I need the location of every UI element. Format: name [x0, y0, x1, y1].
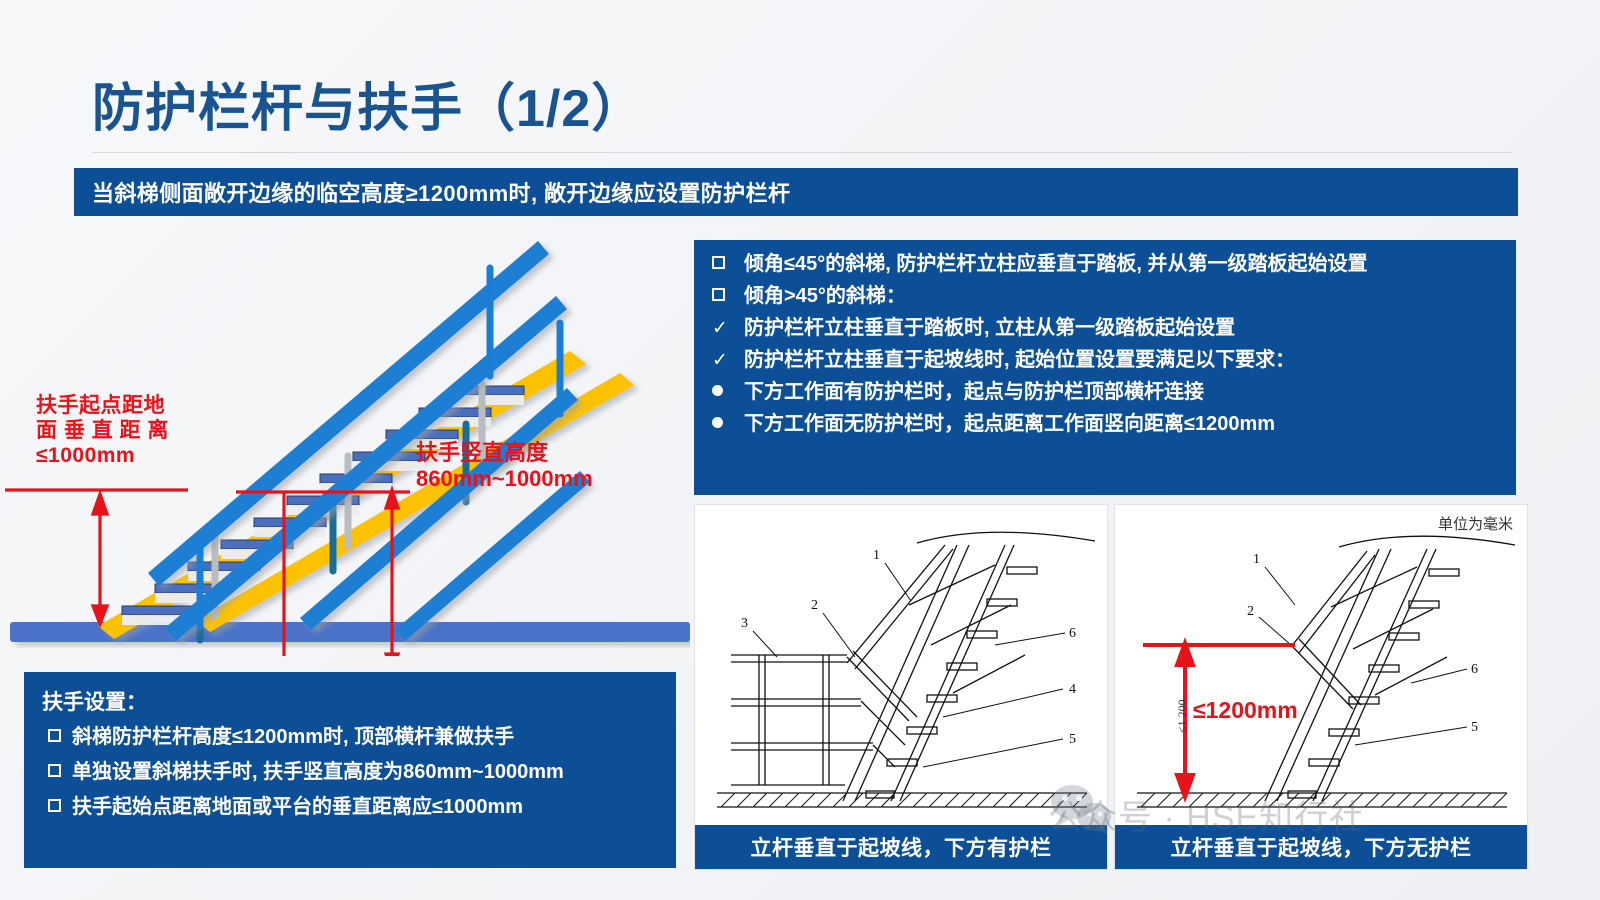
- rule-item-label: 下方工作面有防护栏时，起点与防护栏顶部横杆连接: [744, 380, 1204, 404]
- figure-callout-1: 1: [873, 548, 880, 563]
- title-divider: [92, 152, 1512, 153]
- figure-callout-5: 5: [1069, 732, 1076, 747]
- square-bullet-icon: [42, 760, 72, 784]
- figure-unit-note: 单位为毫米: [1438, 513, 1513, 534]
- rule-item-label: 防护栏杆立柱垂直于踏板时, 立柱从第一级踏板起始设置: [744, 316, 1235, 340]
- rule-item: 倾角≤45°的斜梯, 防护栏杆立柱应垂直于踏板, 并从第一级踏板起始设置: [708, 252, 1506, 276]
- header-banner-text: 当斜梯侧面敞开边缘的临空高度≥1200mm时, 敞开边缘应设置防护栏杆: [74, 176, 790, 208]
- annotation-handrail-vertical-height: 扶手竖直高度 860mm~1000mm: [416, 440, 593, 492]
- rule-item: ✓ 防护栏杆立柱垂直于起坡线时, 起始位置设置要满足以下要求：: [708, 348, 1506, 372]
- handrail-item: 扶手起始点距离地面或平台的垂直距离应≤1000mm: [42, 795, 658, 819]
- annotation-handrail-start-height: 扶手起点距地 面 垂 直 距 离 ≤1000mm: [36, 394, 169, 468]
- rule-item-label: 下方工作面无防护栏时，起点距离工作面竖向距离≤1200mm: [744, 412, 1275, 436]
- figure-callout-2: 2: [811, 598, 818, 613]
- rule-item: ✓ 防护栏杆立柱垂直于踏板时, 立柱从第一级踏板起始设置: [708, 316, 1506, 340]
- figure-callout-4: 4: [1069, 682, 1076, 697]
- figure-callout-5: 5: [1471, 720, 1478, 735]
- handrail-item-label: 单独设置斜梯扶手时, 扶手竖直高度为860mm~1000mm: [72, 760, 564, 784]
- page-title: 防护栏杆与扶手（1/2）: [92, 66, 644, 141]
- rule-item-label: 倾角≤45°的斜梯, 防护栏杆立柱应垂直于踏板, 并从第一级踏板起始设置: [744, 252, 1367, 276]
- square-bullet-icon: [708, 252, 744, 276]
- figure-callout-6: 6: [1471, 662, 1478, 677]
- square-bullet-icon: [42, 725, 72, 749]
- figure-card-no-guardrail: 1 2 6 5 单位为毫米 ≤1200mm ≤1 200 立杆垂直于起坡线，下方…: [1114, 504, 1528, 870]
- figure-dimension-label: ≤1200mm: [1193, 697, 1298, 724]
- figure-card-with-guardrail: 1 2 3 6 4 5 立杆垂直于起坡线，下方有护栏: [694, 504, 1108, 870]
- handrail-item: 斜梯防护栏杆高度≤1200mm时, 顶部横杆兼做扶手: [42, 725, 658, 749]
- dot-bullet-icon: [708, 380, 744, 404]
- rule-item: 下方工作面有防护栏时，起点与防护栏顶部横杆连接: [708, 380, 1506, 404]
- figure-caption-no-guardrail: 立杆垂直于起坡线，下方无护栏: [1115, 825, 1527, 869]
- square-bullet-icon: [42, 795, 72, 819]
- figure-dimension-vertical-label: ≤1 200: [1175, 699, 1190, 733]
- figure-callout-6: 6: [1069, 626, 1076, 641]
- handrail-settings-heading: 扶手设置：: [42, 686, 658, 716]
- figure-drawing-no-guardrail: 1 2 6 5: [1115, 505, 1527, 827]
- figure-caption-with-guardrail: 立杆垂直于起坡线，下方有护栏: [695, 825, 1107, 869]
- figure-callout-2: 2: [1247, 604, 1254, 619]
- rule-item-label: 倾角>45°的斜梯：: [744, 284, 906, 308]
- rules-panel: 倾角≤45°的斜梯, 防护栏杆立柱应垂直于踏板, 并从第一级踏板起始设置 倾角>…: [694, 240, 1516, 495]
- rule-item-label: 防护栏杆立柱垂直于起坡线时, 起始位置设置要满足以下要求：: [744, 348, 1295, 372]
- figure-drawing-with-guardrail: 1 2 3 6 4 5: [695, 505, 1107, 827]
- handrail-item-label: 扶手起始点距离地面或平台的垂直距离应≤1000mm: [72, 795, 523, 819]
- dot-bullet-icon: [708, 412, 744, 436]
- check-bullet-icon: ✓: [708, 348, 744, 372]
- rule-item: 倾角>45°的斜梯：: [708, 284, 1506, 308]
- header-banner: 当斜梯侧面敞开边缘的临空高度≥1200mm时, 敞开边缘应设置防护栏杆: [74, 168, 1518, 216]
- rule-item: 下方工作面无防护栏时，起点距离工作面竖向距离≤1200mm: [708, 412, 1506, 436]
- handrail-item: 单独设置斜梯扶手时, 扶手竖直高度为860mm~1000mm: [42, 760, 658, 784]
- handrail-item-label: 斜梯防护栏杆高度≤1200mm时, 顶部横杆兼做扶手: [72, 725, 514, 749]
- handrail-settings-box: 扶手设置： 斜梯防护栏杆高度≤1200mm时, 顶部横杆兼做扶手 单独设置斜梯扶…: [24, 672, 676, 868]
- figure-callout-3: 3: [741, 616, 748, 631]
- check-bullet-icon: ✓: [708, 316, 744, 340]
- square-bullet-icon: [708, 284, 744, 308]
- slide-root: 防护栏杆与扶手（1/2） 当斜梯侧面敞开边缘的临空高度≥1200mm时, 敞开边…: [0, 0, 1600, 900]
- figure-callout-1: 1: [1253, 552, 1260, 567]
